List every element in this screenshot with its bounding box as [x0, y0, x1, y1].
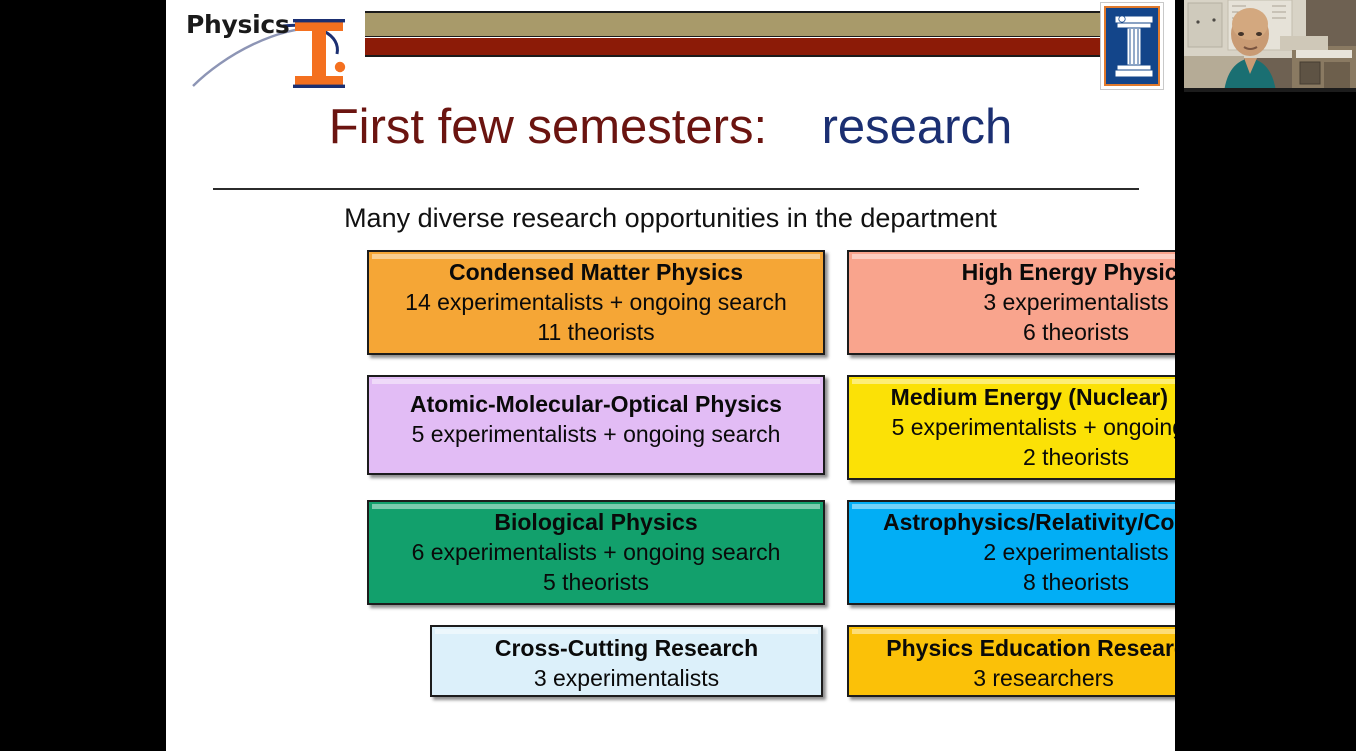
box-title: Physics Education Research	[849, 633, 1175, 663]
research-row: Biological Physics 6 experimentalists + …	[166, 500, 1175, 625]
box-line: 5 experimentalists + ongoing search	[849, 412, 1175, 442]
page-title-primary: First few semesters:	[329, 100, 767, 154]
box-medium-energy-nuclear-physics[interactable]: Medium Energy (Nuclear) Physics 5 experi…	[847, 375, 1175, 480]
box-line: 5 experimentalists + ongoing search	[369, 419, 823, 449]
box-title: Atomic-Molecular-Optical Physics	[369, 389, 823, 419]
box-line: 11 theorists	[369, 317, 823, 347]
box-line: 14 experimentalists + ongoing search	[369, 287, 823, 317]
block-i-crest	[1100, 2, 1164, 90]
header-bar-khaki	[365, 11, 1105, 37]
box-physics-education-research[interactable]: Physics Education Research 3 researchers	[847, 625, 1175, 697]
slide-subtitle: Many diverse research opportunities in t…	[166, 200, 1175, 236]
research-row: Cross-Cutting Research 3 experimentalist…	[166, 625, 1175, 725]
box-line: 3 researchers	[849, 663, 1175, 693]
box-title: Condensed Matter Physics	[369, 257, 823, 287]
box-line: 3 experimentalists	[849, 287, 1175, 317]
header-color-bars	[365, 11, 1105, 57]
box-line: 5 theorists	[369, 567, 823, 597]
box-title: Biological Physics	[369, 507, 823, 537]
webcam-frame	[1184, 0, 1356, 92]
box-high-energy-physics[interactable]: High Energy Physics 3 experimentalists 6…	[847, 250, 1175, 355]
box-astrophysics-relativity-cosmology[interactable]: Astrophysics/Relativity/Cosmology 2 expe…	[847, 500, 1175, 605]
page-title-accent: research	[822, 100, 1013, 154]
research-row: Atomic-Molecular-Optical Physics 5 exper…	[166, 375, 1175, 500]
research-areas-grid: Condensed Matter Physics 14 experimental…	[166, 250, 1175, 725]
page-title: First few semesters: research	[166, 96, 1175, 158]
box-line: 8 theorists	[849, 567, 1175, 597]
title-divider	[213, 188, 1139, 190]
box-atomic-molecular-optical-physics[interactable]: Atomic-Molecular-Optical Physics 5 exper…	[367, 375, 825, 475]
box-line: 2 experimentalists	[849, 537, 1175, 567]
physics-illinois-logo: Physics	[183, 2, 363, 98]
box-line: 6 theorists	[849, 317, 1175, 347]
box-condensed-matter-physics[interactable]: Condensed Matter Physics 14 experimental…	[367, 250, 825, 355]
slide-header: Physics	[166, 0, 1175, 96]
research-row: Condensed Matter Physics 14 experimental…	[166, 250, 1175, 375]
box-title: Medium Energy (Nuclear) Physics	[849, 382, 1175, 412]
presentation-slide: Physics	[166, 0, 1175, 751]
box-title: Cross-Cutting Research	[432, 633, 821, 663]
header-bar-maroon	[365, 38, 1105, 57]
box-line: 2 theorists	[849, 442, 1175, 472]
box-line: 6 experimentalists + ongoing search	[369, 537, 823, 567]
box-line: 3 experimentalists	[432, 663, 821, 693]
box-title: High Energy Physics	[849, 257, 1175, 287]
screen-root: Physics	[0, 0, 1356, 751]
box-title: Astrophysics/Relativity/Cosmology	[849, 507, 1175, 537]
block-i-glyph	[1106, 8, 1162, 86]
presenter-webcam-feed[interactable]	[1184, 0, 1356, 92]
logo-wordmark: Physics	[186, 10, 289, 39]
box-cross-cutting-research[interactable]: Cross-Cutting Research 3 experimentalist…	[430, 625, 823, 697]
block-i-crest-field	[1104, 6, 1160, 86]
box-biological-physics[interactable]: Biological Physics 6 experimentalists + …	[367, 500, 825, 605]
